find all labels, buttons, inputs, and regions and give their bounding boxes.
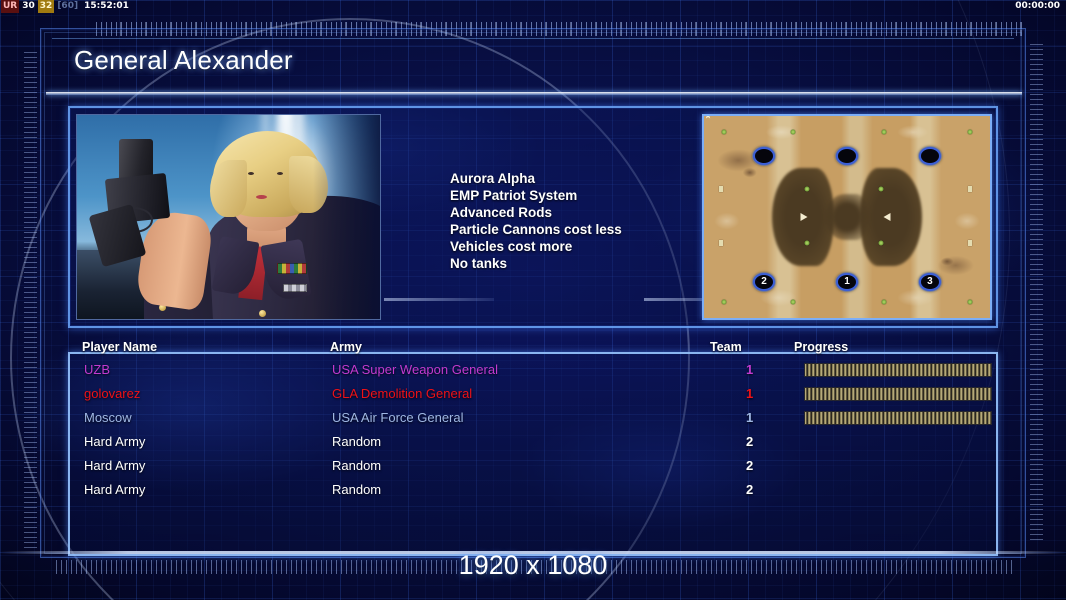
general-traits-list: Aurora Alpha EMP Patriot System Advanced…	[450, 170, 750, 272]
player-table: UZBUSA Super Weapon General1golovarezGLA…	[68, 352, 998, 556]
column-header-progress: Progress	[794, 340, 848, 354]
figure-medal-bar	[283, 284, 307, 292]
player-table-header: Player Name Army Team Progress	[82, 340, 1002, 356]
map-resource-marker	[879, 241, 884, 246]
column-header-team: Team	[710, 340, 742, 354]
map-resource-marker	[790, 299, 795, 304]
trait-item: EMP Patriot System	[450, 187, 750, 204]
cell-player-name: Moscow	[84, 406, 132, 430]
game-screen: UR 30 32 [60] 15:52:01 00:00:00 General …	[0, 0, 1066, 600]
title-underline	[46, 92, 1022, 95]
portrait-fade	[313, 115, 380, 319]
map-tech-marker	[968, 186, 972, 192]
map-start-position[interactable]: 1	[836, 273, 858, 291]
general-info-panel: Aurora Alpha EMP Patriot System Advanced…	[68, 106, 998, 328]
ruler-left	[24, 52, 37, 552]
map-resource-marker	[722, 299, 727, 304]
status-bar: UR 30 32 [60] 15:52:01 00:00:00	[0, 0, 1066, 13]
status-left-group: UR 30 32 [60] 15:52:01	[1, 0, 129, 13]
cell-army: Random	[332, 454, 381, 478]
table-row[interactable]: UZBUSA Super Weapon General1	[70, 358, 996, 382]
panel-highlight-line-1	[384, 298, 494, 301]
map-center-basin	[772, 168, 922, 266]
cell-team: 1	[746, 406, 753, 430]
trait-item: Aurora Alpha	[450, 170, 750, 187]
trait-item: Vehicles cost more	[450, 238, 750, 255]
cell-player-name: Hard Army	[84, 478, 145, 502]
trait-item: Particle Cannons cost less	[450, 221, 750, 238]
figure-medal-ribbons	[277, 263, 307, 274]
progress-bar	[804, 387, 992, 401]
map-start-position[interactable]	[836, 147, 858, 165]
map-start-position[interactable]	[753, 147, 775, 165]
cell-army: Random	[332, 430, 381, 454]
column-header-army: Army	[330, 340, 362, 354]
map-resource-marker	[722, 130, 727, 135]
basin-right	[860, 168, 922, 266]
map-resource-marker	[882, 299, 887, 304]
resolution-label: 1920 x 1080	[0, 550, 1066, 581]
map-resource-marker	[967, 130, 972, 135]
general-portrait	[76, 114, 381, 320]
cell-player-name: Hard Army	[84, 454, 145, 478]
table-row[interactable]: golovarezGLA Demolition General1	[70, 382, 996, 406]
figure-button-3	[259, 310, 266, 317]
trait-item: Advanced Rods	[450, 204, 750, 221]
status-value-3: [60]	[57, 0, 78, 13]
table-row[interactable]: Hard ArmyRandom2	[70, 430, 996, 454]
cell-army: Random	[332, 478, 381, 502]
figure-lips	[256, 195, 267, 199]
map-tech-marker	[968, 240, 972, 246]
cell-army: USA Super Weapon General	[332, 358, 498, 382]
progress-bar	[804, 363, 992, 377]
status-clock: 15:52:01	[84, 0, 129, 13]
map-resource-marker	[879, 186, 884, 191]
map-resource-marker	[804, 241, 809, 246]
cell-team: 1	[746, 358, 753, 382]
ruler-right	[1030, 44, 1043, 540]
cell-team: 2	[746, 430, 753, 454]
cell-progress	[804, 363, 992, 377]
cell-team: 1	[746, 382, 753, 406]
basin-center	[825, 194, 869, 240]
cell-team: 2	[746, 478, 753, 502]
status-value-1: 30	[22, 0, 35, 13]
map-start-position[interactable]: 3	[919, 273, 941, 291]
cell-player-name: UZB	[84, 358, 110, 382]
cell-army: USA Air Force General	[332, 406, 464, 430]
table-row[interactable]: Hard ArmyRandom2	[70, 454, 996, 478]
map-direction-arrow-left	[884, 213, 891, 221]
table-row[interactable]: Hard ArmyRandom2	[70, 478, 996, 502]
map-start-position[interactable]	[919, 147, 941, 165]
progress-bar	[804, 411, 992, 425]
figure-hair-left	[210, 160, 246, 217]
map-center-marker: ★★	[702, 114, 711, 122]
map-resource-marker	[882, 130, 887, 135]
cell-team: 2	[746, 454, 753, 478]
title-bar: General Alexander	[52, 38, 1014, 90]
map-resource-marker	[804, 186, 809, 191]
status-timer: 00:00:00	[1015, 0, 1060, 13]
column-header-player-name: Player Name	[82, 340, 157, 354]
page-title: General Alexander	[74, 45, 293, 76]
cell-progress	[804, 411, 992, 425]
status-value-2: 32	[38, 0, 55, 13]
map-resource-marker	[790, 130, 795, 135]
trait-item: No tanks	[450, 255, 750, 272]
status-tag: UR	[1, 0, 19, 13]
map-start-position[interactable]: 2	[753, 273, 775, 291]
cell-player-name: golovarez	[84, 382, 140, 406]
cell-army: GLA Demolition General	[332, 382, 472, 406]
table-row[interactable]: MoscowUSA Air Force General1	[70, 406, 996, 430]
cell-player-name: Hard Army	[84, 430, 145, 454]
map-resource-marker	[967, 299, 972, 304]
map-direction-arrow-right	[801, 213, 808, 221]
cell-progress	[804, 387, 992, 401]
